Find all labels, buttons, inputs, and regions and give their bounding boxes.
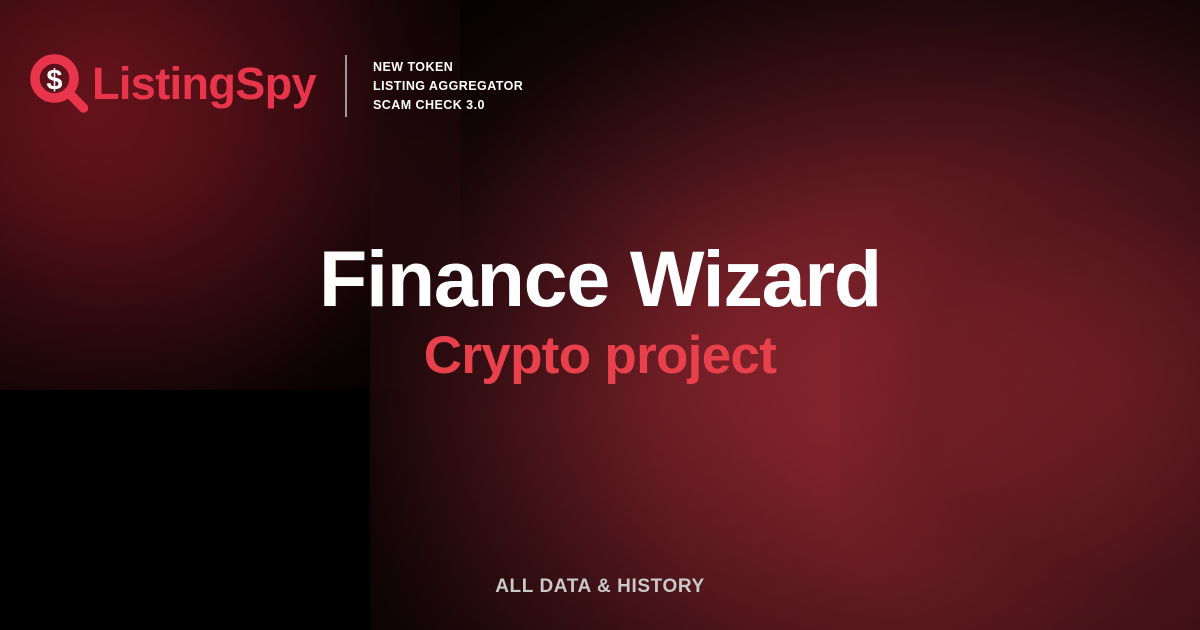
logo-lockup[interactable]: $ ListingSpy [30,52,316,114]
page-title: Finance Wizard [0,238,1200,320]
svg-text:$: $ [46,65,62,97]
tagline-line-2: LISTING AGGREGATOR [373,77,523,96]
tagline-line-3: SCAM CHECK 3.0 [373,96,523,115]
logo-divider [345,55,347,117]
hero-section: Finance Wizard Crypto project [0,238,1200,386]
footer-caption: ALL DATA & HISTORY [0,576,1200,598]
footer-section: ALL DATA & HISTORY [0,576,1200,598]
page-subtitle: Crypto project [0,326,1200,385]
brand-tagline: NEW TOKEN LISTING AGGREGATOR SCAM CHECK … [373,58,523,115]
banner-canvas: $ ListingSpy NEW TOKEN LISTING AGGREGATO… [0,0,1200,630]
brand-header[interactable]: $ ListingSpy NEW TOKEN LISTING AGGREGATO… [30,52,523,117]
brand-wordmark: ListingSpy [92,61,316,106]
tagline-line-1: NEW TOKEN [373,58,523,77]
magnifier-dollar-icon: $ [30,54,88,114]
